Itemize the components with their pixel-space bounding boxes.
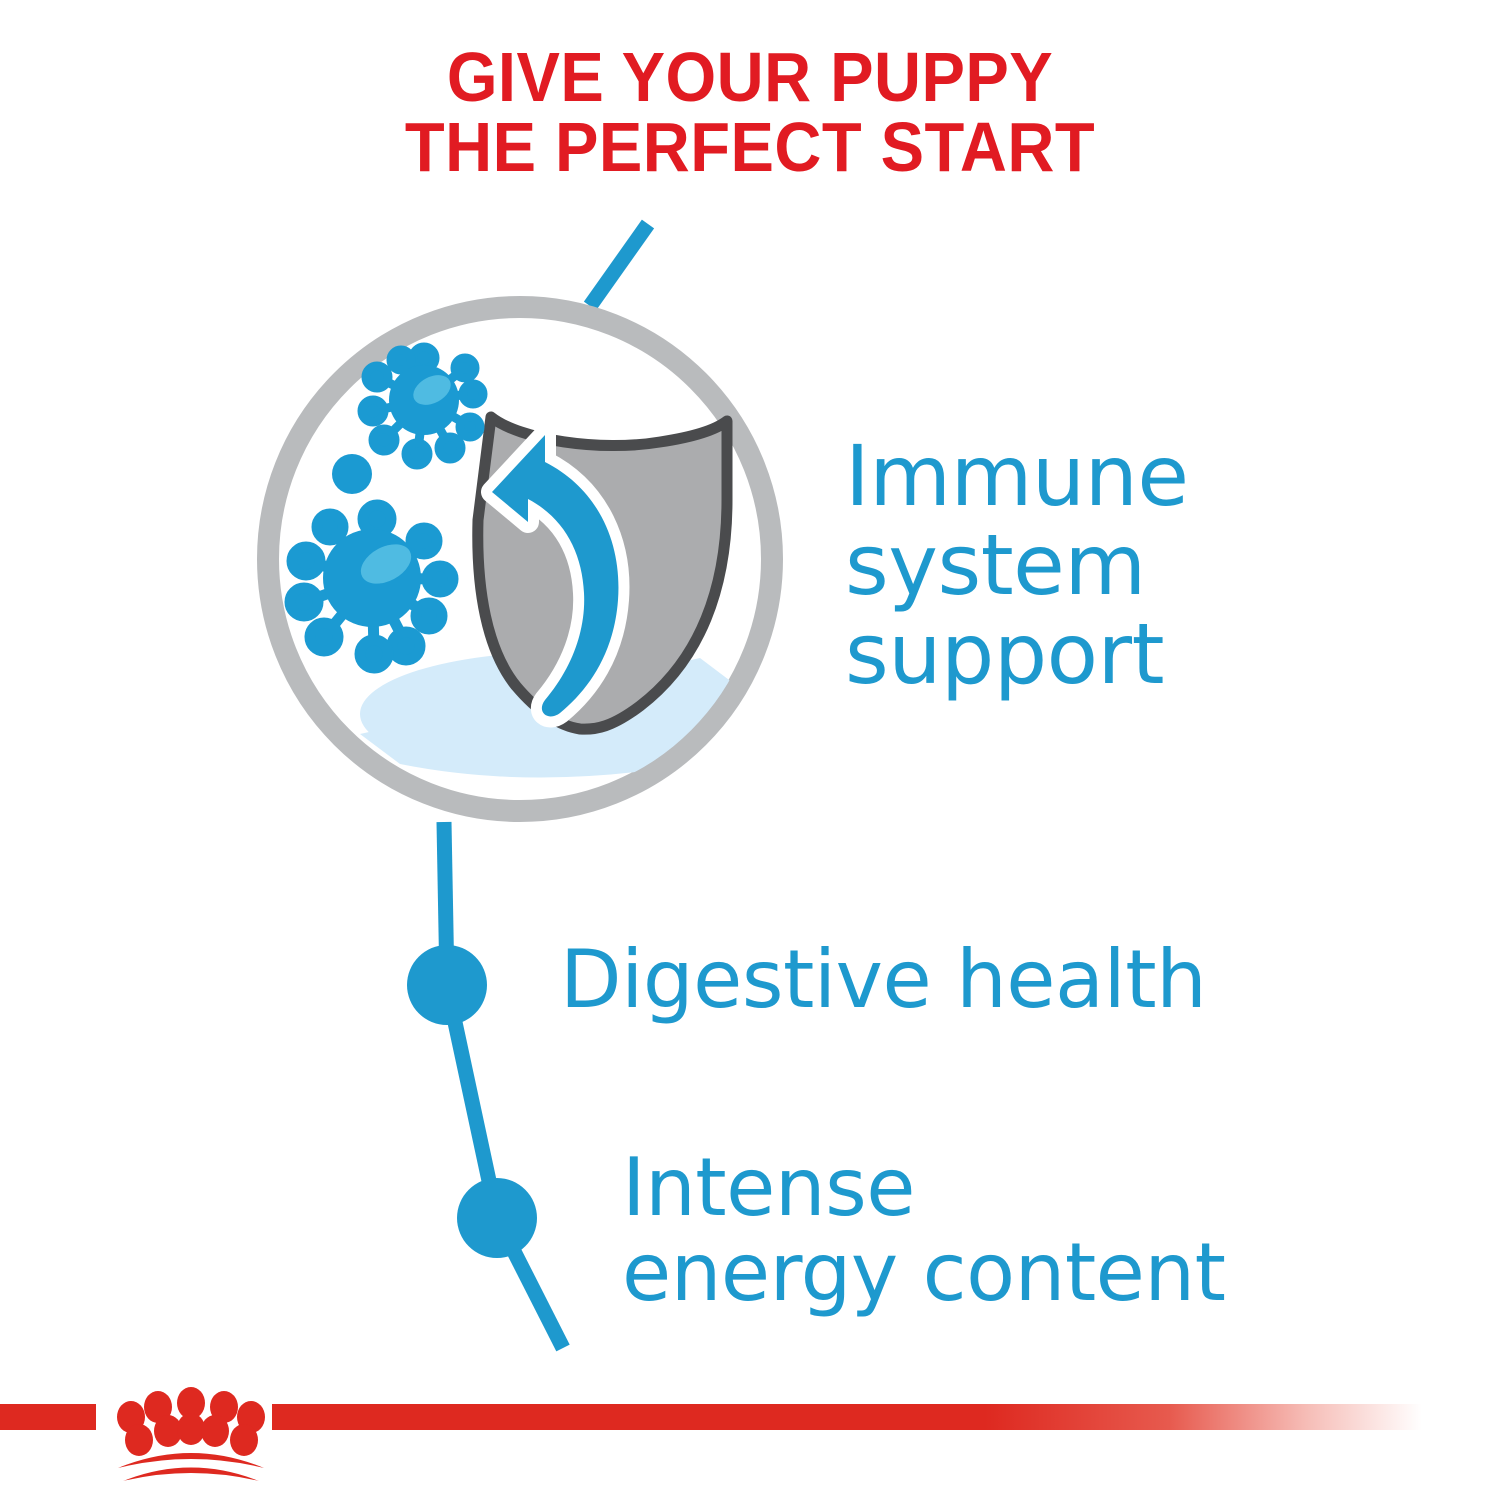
benefit-immune-line-3: support: [845, 610, 1265, 699]
page-title: GIVE YOUR PUPPY THE PERFECT START: [53, 42, 1448, 182]
footer-bar-right: [272, 1404, 1422, 1430]
benefit-immune-line-1: Immune: [845, 432, 1265, 521]
benefit-digestive-line-1: Digestive health: [560, 938, 1320, 1023]
benefit-energy-line-2: energy content: [622, 1231, 1362, 1316]
page-title-line-1: GIVE YOUR PUPPY: [53, 42, 1448, 112]
puddle-icon: [360, 652, 760, 778]
connector-segment-upper: [444, 822, 447, 985]
brand-footer: [0, 1380, 1500, 1500]
benefit-label-intense-energy-content: Intense energy content: [622, 1146, 1362, 1316]
benefit-label-digestive-health: Digestive health: [560, 938, 1320, 1023]
benefit-energy-line-1: Intense: [622, 1146, 1362, 1231]
connector-line-group: [444, 224, 648, 1348]
protection-arrow-icon: [492, 435, 618, 716]
connector-segment-lower: [497, 1218, 563, 1348]
benefit-immune-line-2: system: [845, 521, 1265, 610]
connector-segment-middle: [447, 985, 497, 1218]
footer-bar-left: [0, 1404, 96, 1430]
poster-canvas: GIVE YOUR PUPPY THE PERFECT START: [0, 0, 1500, 1500]
connector-segment-top: [590, 224, 648, 306]
virus-dot-icon: [332, 454, 372, 494]
page-title-line-2: THE PERFECT START: [53, 112, 1448, 182]
virus-icon-lower: [290, 505, 453, 668]
shield-icon: [478, 417, 727, 729]
connector-node-digestive: [407, 945, 487, 1025]
royal-canin-crown-logo: [96, 1380, 286, 1490]
connector-node-energy: [457, 1178, 537, 1258]
virus-icon-upper: [362, 347, 483, 465]
icon-ring-circle: [268, 307, 772, 811]
benefit-label-immune-system-support: Immune system support: [845, 432, 1265, 699]
